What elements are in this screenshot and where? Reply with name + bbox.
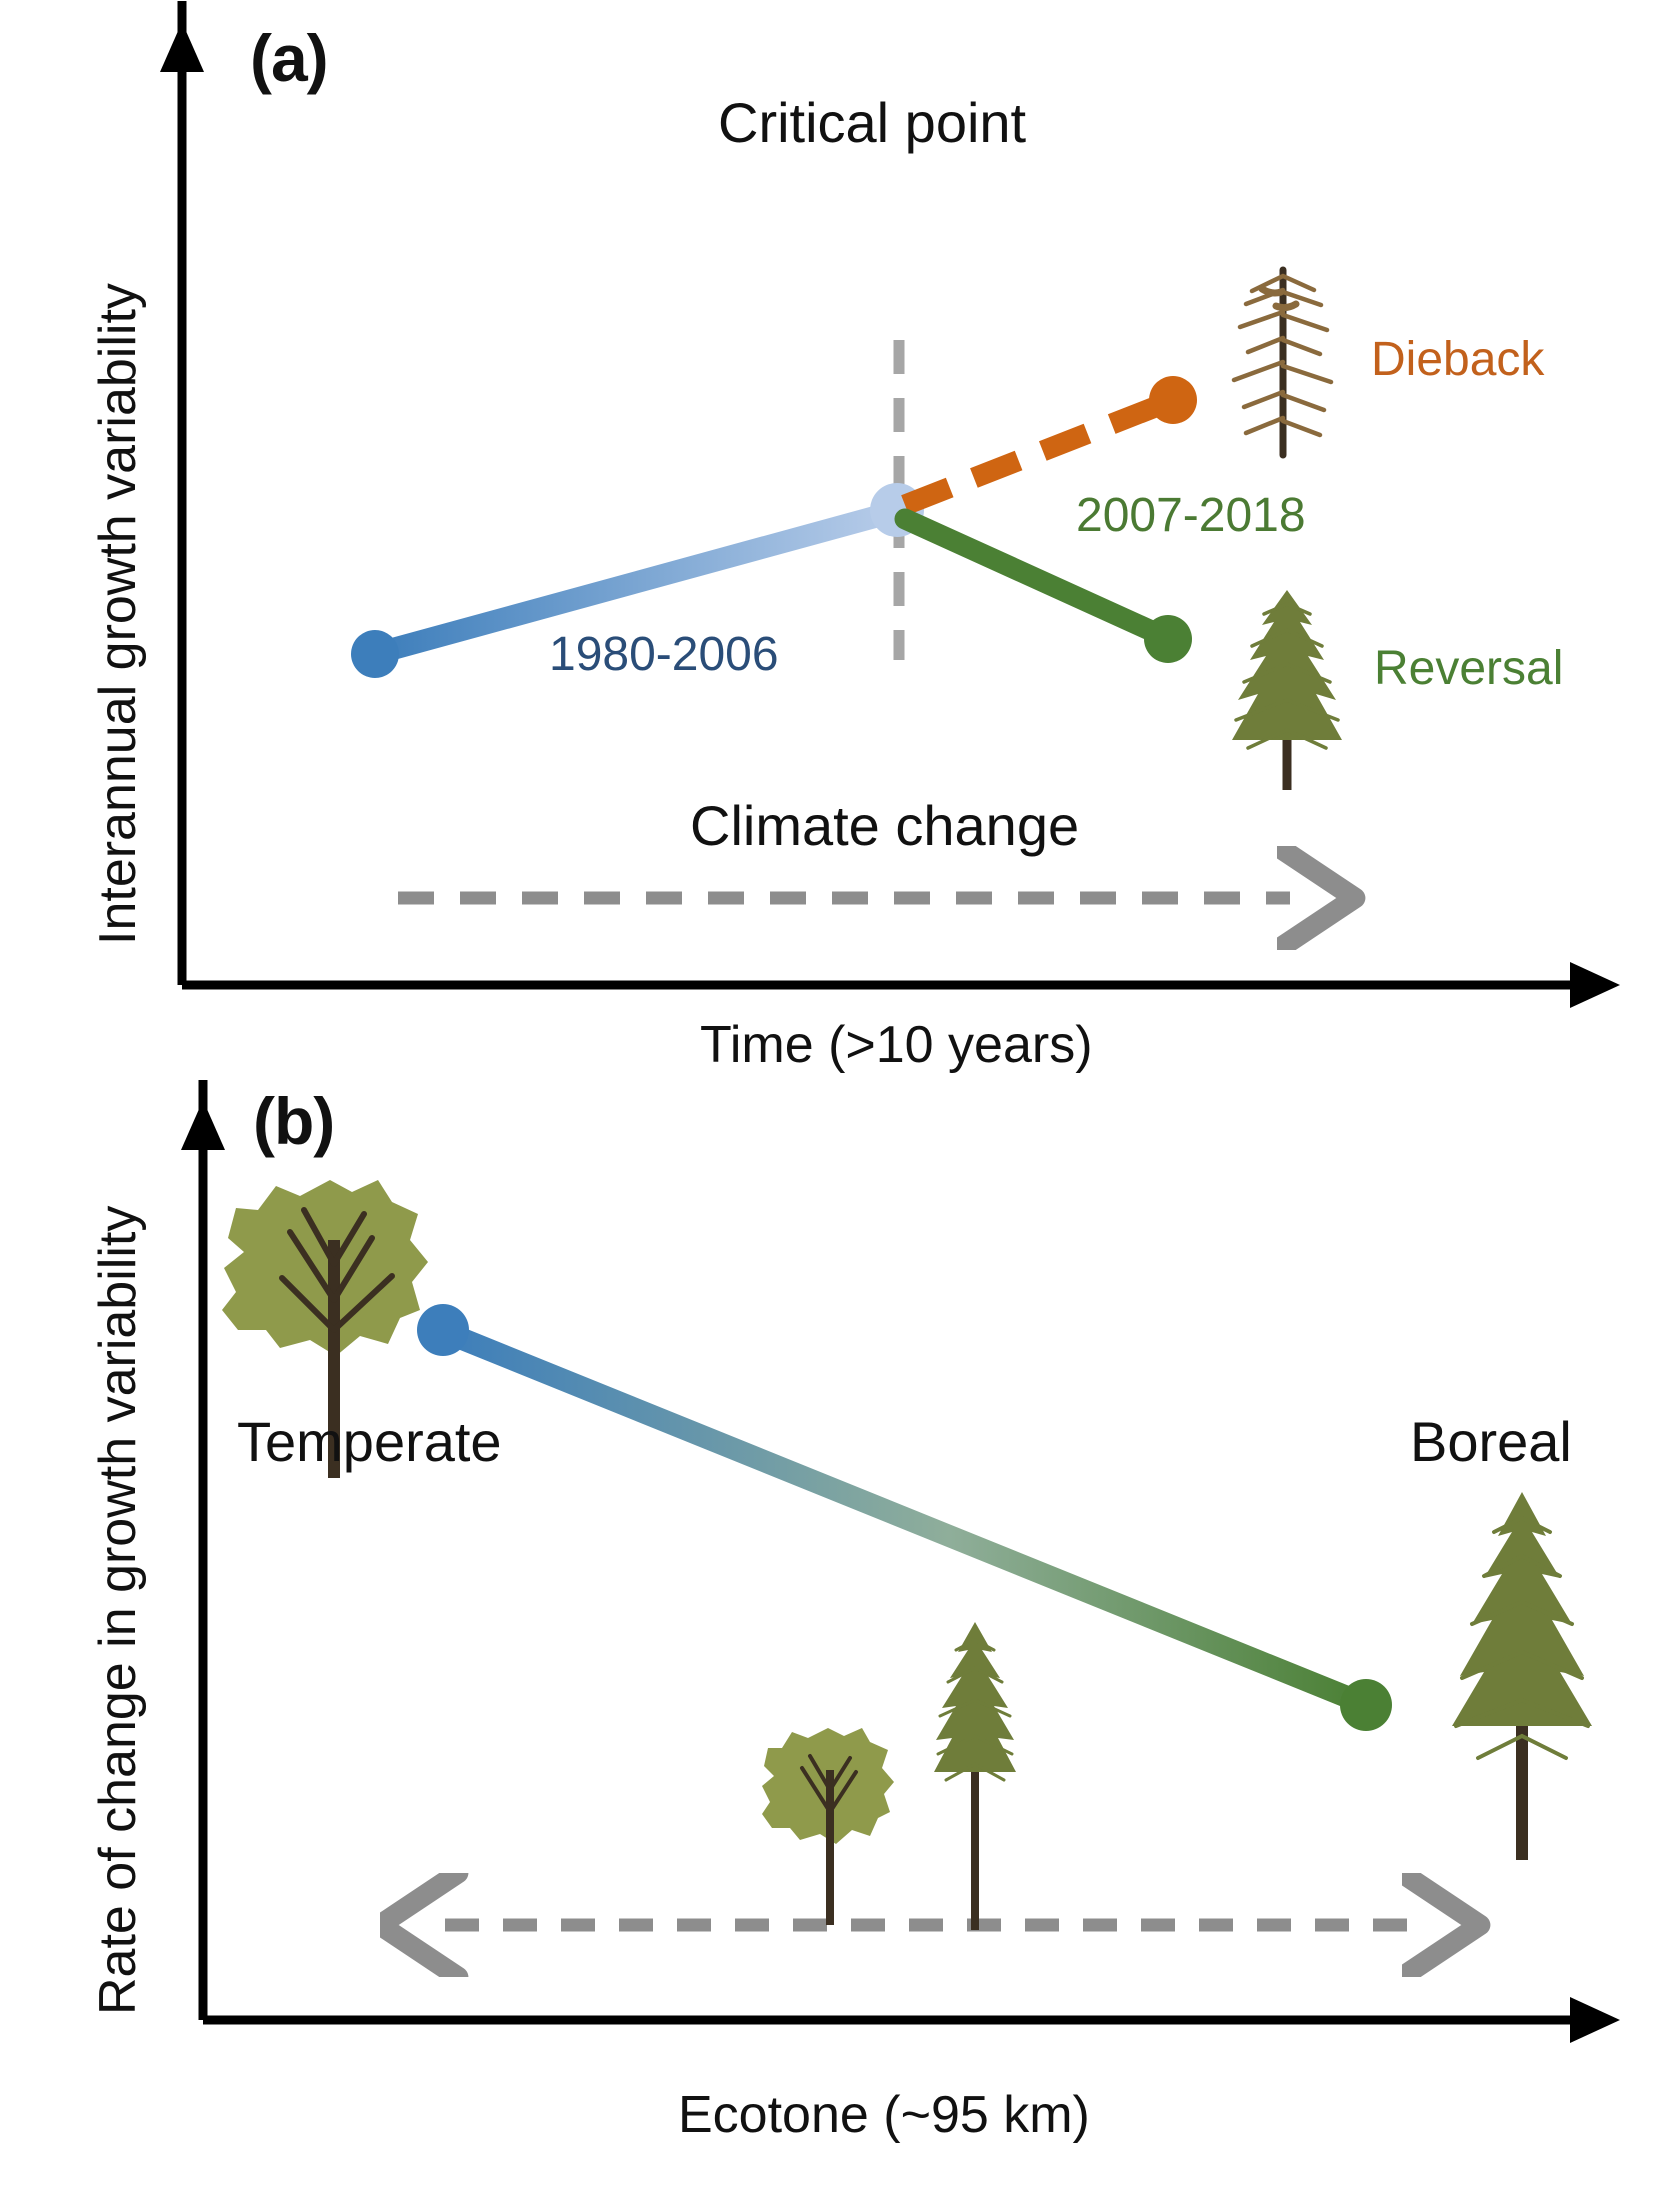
series-dieback-line [905, 376, 1197, 505]
healthy-conifer-icon [1232, 590, 1342, 790]
dieback-label: Dieback [1371, 332, 1544, 387]
panel-b-letter: (b) [253, 1083, 334, 1159]
panel-a-y-axis-label: Interannual growth variability [88, 283, 148, 945]
panel-b-x-axis-label: Ecotone (~95 km) [678, 2085, 1090, 2145]
series-reversal-end-marker [1144, 615, 1192, 663]
panel-b-y-axis-label: Rate of change in growth variability [88, 1206, 148, 2015]
dieback-tree-icon [1234, 270, 1331, 455]
temperate-label: Temperate [237, 1409, 502, 1474]
panel-a-x-axis-label: Time (>10 years) [700, 1015, 1093, 1075]
period-2007-2018-label: 2007-2018 [1076, 488, 1306, 543]
figure-canvas [0, 0, 1659, 2193]
small-conifer-tree-icon [934, 1622, 1016, 1930]
large-conifer-tree-icon [1452, 1492, 1592, 1860]
series-1980-2006-start-marker [351, 630, 399, 678]
small-broadleaf-tree-icon [762, 1728, 894, 1925]
figure-root: (a) Critical point Dieback 2007-2018 198… [0, 0, 1659, 2193]
ecotone-trend-start-marker [417, 1304, 469, 1356]
climate-change-label: Climate change [690, 793, 1079, 858]
ecotone-trend-line [417, 1304, 1392, 1731]
reversal-label: Reversal [1374, 641, 1563, 696]
period-1980-2006-label: 1980-2006 [549, 627, 779, 682]
ecotone-trend-end-marker [1340, 1679, 1392, 1731]
series-dieback-end-marker [1149, 376, 1197, 424]
panel-a-letter: (a) [250, 20, 328, 96]
critical-point-label: Critical point [718, 90, 1026, 155]
boreal-label: Boreal [1410, 1409, 1572, 1474]
